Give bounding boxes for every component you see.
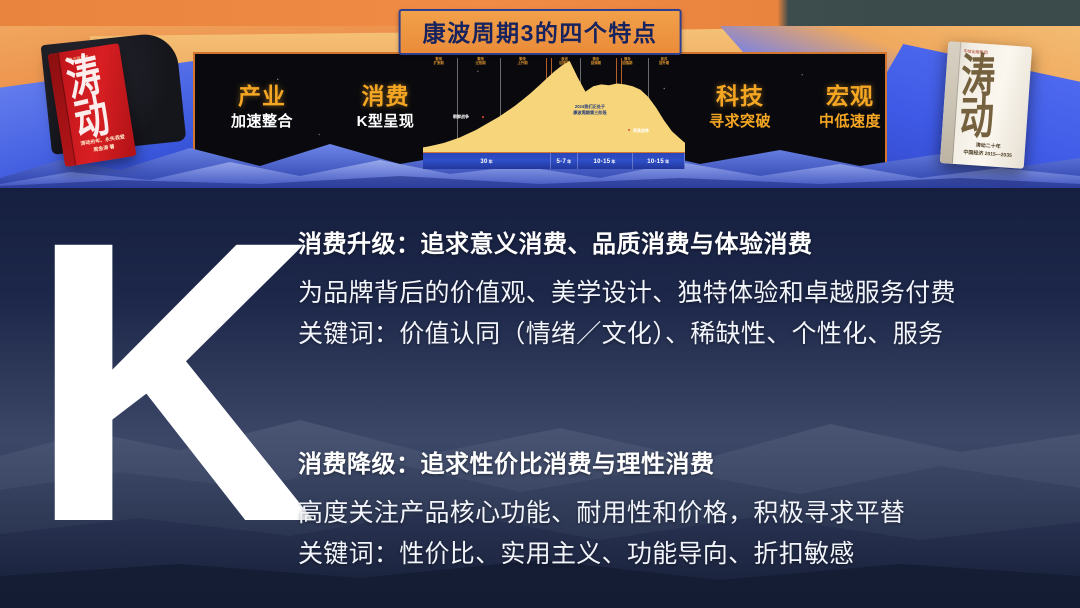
led-title-technology: 科技 xyxy=(687,84,793,110)
content-block-downgrade: 消费降级：追求性价比消费与理性消费 高度关注产品核心功能、耐用性和价格，积极寻求… xyxy=(298,444,1058,574)
block-line-upgrade-1: 为品牌背后的价值观、美学设计、独特体验和卓越服务付费 xyxy=(298,273,1058,314)
chart-timeline: 30年5-7年10-15年10-15年 xyxy=(423,152,685,169)
chart-timeline-segment-2: 10-15年 xyxy=(578,153,633,170)
big-letter-k: K xyxy=(28,214,309,550)
content-block-upgrade: 消费升级：追求意义消费、品质消费与体验消费 为品牌背后的价值观、美学设计、独特体… xyxy=(298,224,1058,354)
slide-root: 产业 加速整合 消费 K型呈现 科技 寻求突破 宏观 中低速度 繁荣扩张期繁荣过… xyxy=(0,0,1080,608)
chart-timeline-segment-0: 30年 xyxy=(423,153,551,170)
led-title-industry: 产业 xyxy=(202,84,322,110)
slide-title-text: 康波周期3的四个特点 xyxy=(423,20,658,46)
led-subtitle-industry: 加速整合 xyxy=(202,114,322,131)
block-line-downgrade-2: 关键词：性价比、实用主义、功能导向、折扣敏感 xyxy=(298,534,1058,575)
slide-title-banner: 康波周期3的四个特点 xyxy=(399,9,682,55)
kondratiev-cycle-chart: 繁荣扩张期繁荣过热期繁荣上升期衰退回落期萧条回调期萧条回落期复苏回升期 朝鲜战争… xyxy=(423,56,685,171)
book-calligraphy-right: 涛动 xyxy=(959,42,1025,155)
led-group-consumption: 消费 K型呈现 xyxy=(323,84,448,131)
led-title-consumption: 消费 xyxy=(323,84,448,110)
chart-annotation: 2024我们正处于康波周期第三阶段 xyxy=(553,104,627,115)
block-line-upgrade-2: 关键词：价值认同（情绪／文化）、稀缺性、个性化、服务 xyxy=(298,314,1058,355)
chart-marker-0: 朝鲜战争 xyxy=(453,114,469,120)
block-line-downgrade-1: 高度关注产品核心功能、耐用性和价格，积极寻求平替 xyxy=(298,493,1058,534)
led-title-macro: 宏观 xyxy=(795,84,887,110)
chart-marker-1: 贸易战争 xyxy=(633,128,649,134)
led-group-technology: 科技 寻求突破 xyxy=(687,84,793,131)
led-subtitle-macro: 中低速度 xyxy=(795,114,887,131)
block-heading-downgrade: 消费降级：追求性价比消费与理性消费 xyxy=(298,444,1058,479)
chart-timeline-segment-1: 5-7年 xyxy=(551,153,577,170)
led-group-macro: 宏观 中低速度 xyxy=(795,84,887,131)
book-footer-right: 涛动二十年 中国经济 2015—2035 xyxy=(954,141,1021,161)
stage-scene: 产业 加速整合 消费 K型呈现 科技 寻求突破 宏观 中低速度 繁荣扩张期繁荣过… xyxy=(0,0,1080,188)
block-heading-upgrade: 消费升级：追求意义消费、品质消费与体验消费 xyxy=(298,224,1058,259)
chart-marker-dot-1 xyxy=(628,129,630,131)
book-cover-right: 中信出版集团 涛动 涛动二十年 中国经济 2015—2035 xyxy=(940,41,1032,169)
content-area: K 消费升级：追求意义消费、品质消费与体验消费 为品牌背后的价值观、美学设计、独… xyxy=(0,188,1080,608)
chart-marker-dot-0 xyxy=(482,116,484,118)
led-group-industry: 产业 加速整合 xyxy=(202,84,322,131)
chart-timeline-segment-3: 10-15年 xyxy=(633,153,685,170)
led-subtitle-technology: 寻求突破 xyxy=(687,114,793,131)
led-subtitle-consumption: K型呈现 xyxy=(323,114,448,131)
